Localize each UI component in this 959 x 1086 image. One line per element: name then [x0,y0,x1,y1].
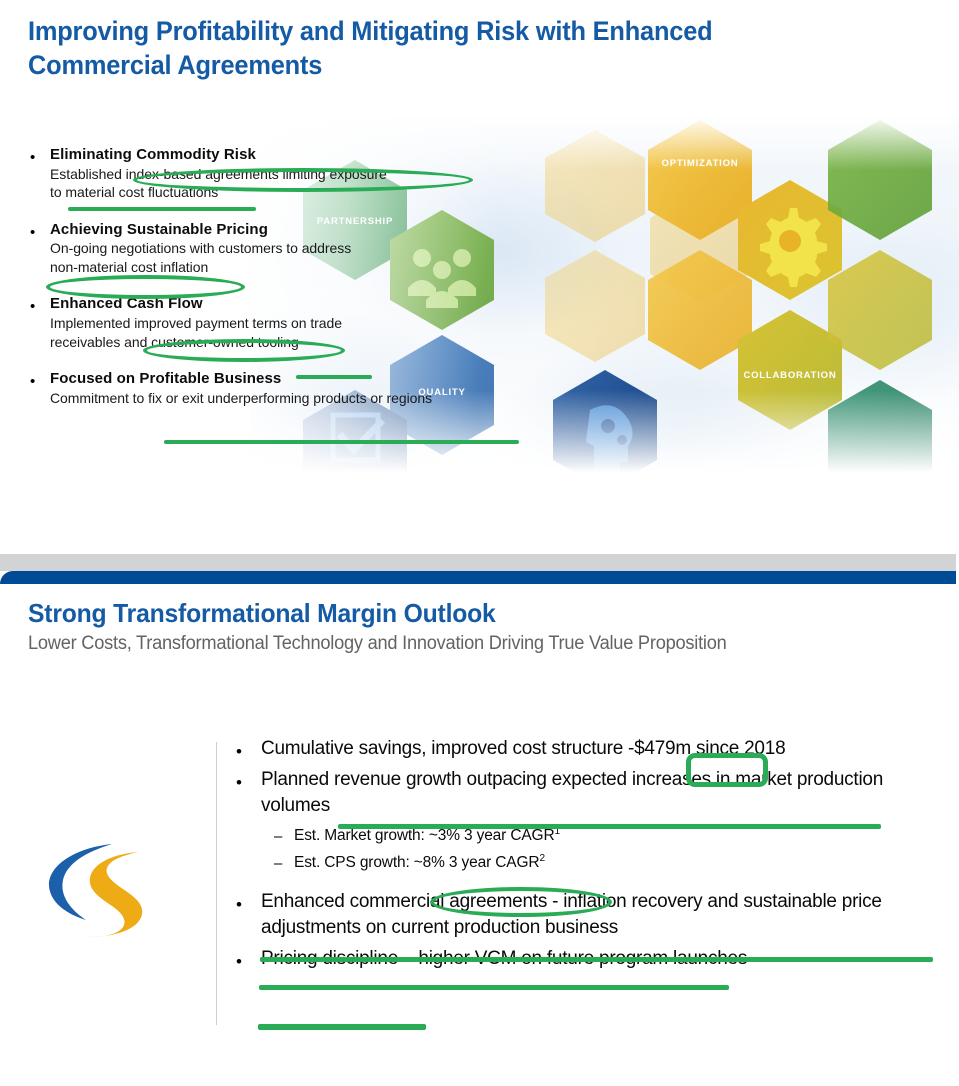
bullet-marker: • [30,299,35,314]
page-title: Strong Transformational Margin Outlook [28,598,496,629]
bullet-body-line: Established index-based agreements limit… [50,165,568,183]
cooper-standard-cs-mark-large [40,840,160,938]
list-item: • Pricing discipline – higher VCM on fut… [234,946,946,972]
bullet-marker: • [236,896,242,913]
footnote-ref: 1 [555,826,560,837]
underline-pricing-discipline [258,1024,426,1030]
bullet-body-line: receivables and customer-owned tooling [50,333,568,351]
list-item: • Planned revenue growth outpacing expec… [234,767,946,819]
bullet-heading: Achieving Sustainable Pricing [50,221,568,240]
sub-bullet-label: Est. Market growth: ~3% 3 year CAGR [294,827,555,844]
dash-marker: – [274,827,282,847]
bullet-heading: Eliminating Commodity Risk [50,146,568,165]
underline-price-adjustments [259,985,729,990]
sub-bullet-label: Est. CPS growth: ~8% 3 year CAGR [294,854,539,871]
bullet-marker: • [30,225,35,240]
footnote-ref: 2 [539,853,544,864]
sub-bullet-text: Est. Market growth: ~3% 3 year CAGR1 [294,825,946,847]
slide2-top-blue-bar [0,571,956,584]
list-item: • Achieving Sustainable Pricing On-going… [28,221,568,277]
sub-bullet-text: Est. CPS growth: ~8% 3 year CAGR2 [294,852,946,874]
bullet-body-line: On-going negotiations with customers to … [50,239,568,257]
dash-marker: – [274,854,282,874]
bullet-text: Planned revenue growth outpacing expecte… [261,767,946,819]
bullet-text: Enhanced commercial agreements - inflati… [261,889,946,941]
list-item: • Enhanced Cash Flow Implemented improve… [28,295,568,351]
hex-label-collaboration: COLLABORATION [743,370,836,381]
gear-icon [760,208,827,287]
slide2-bullet-list: • Cumulative savings, improved cost stru… [234,736,946,977]
bullet-marker: • [236,774,242,791]
list-item: • Cumulative savings, improved cost stru… [234,736,946,762]
bullet-text: Pricing discipline – higher VCM on futur… [261,946,946,972]
bullet-marker: • [236,743,242,760]
content-divider-rule [216,742,217,1025]
bullet-body-line: non-material cost inflation [50,258,568,276]
bullet-marker: • [30,150,35,165]
sub-list-item: – Est. Market growth: ~3% 3 year CAGR1 [234,825,946,847]
slide-improving-profitability: PARTNERSHIP OPTIMIZATION [0,0,959,510]
list-item: • Enhanced commercial agreements - infla… [234,889,946,941]
sub-list-item: – Est. CPS growth: ~8% 3 year CAGR2 [234,852,946,874]
page-title: Improving Profitability and Mitigating R… [28,14,836,82]
bullet-text: Cumulative savings, improved cost struct… [261,736,946,762]
page-subtitle: Lower Costs, Transformational Technology… [28,633,727,655]
list-item: • Focused on Profitable Business Commitm… [28,370,568,407]
bullet-body-line: Implemented improved payment terms on tr… [50,314,568,332]
bullet-body-line: to material cost fluctuations [50,183,568,201]
slide1-bullet-list: • Eliminating Commodity Risk Established… [28,146,568,426]
bullet-heading: Enhanced Cash Flow [50,295,568,314]
slide-strong-transformational-margin-outlook: Strong Transformational Margin Outlook L… [0,584,959,1086]
slide-separator-gray-band [0,554,956,571]
bullet-body-line: Commitment to fix or exit underperformin… [50,389,568,407]
bullet-marker: • [236,953,242,970]
bullet-heading: Focused on Profitable Business [50,370,568,389]
list-item: • Eliminating Commodity Risk Established… [28,146,568,202]
bullet-marker: • [30,374,35,389]
blue-bar-fill [0,571,956,584]
